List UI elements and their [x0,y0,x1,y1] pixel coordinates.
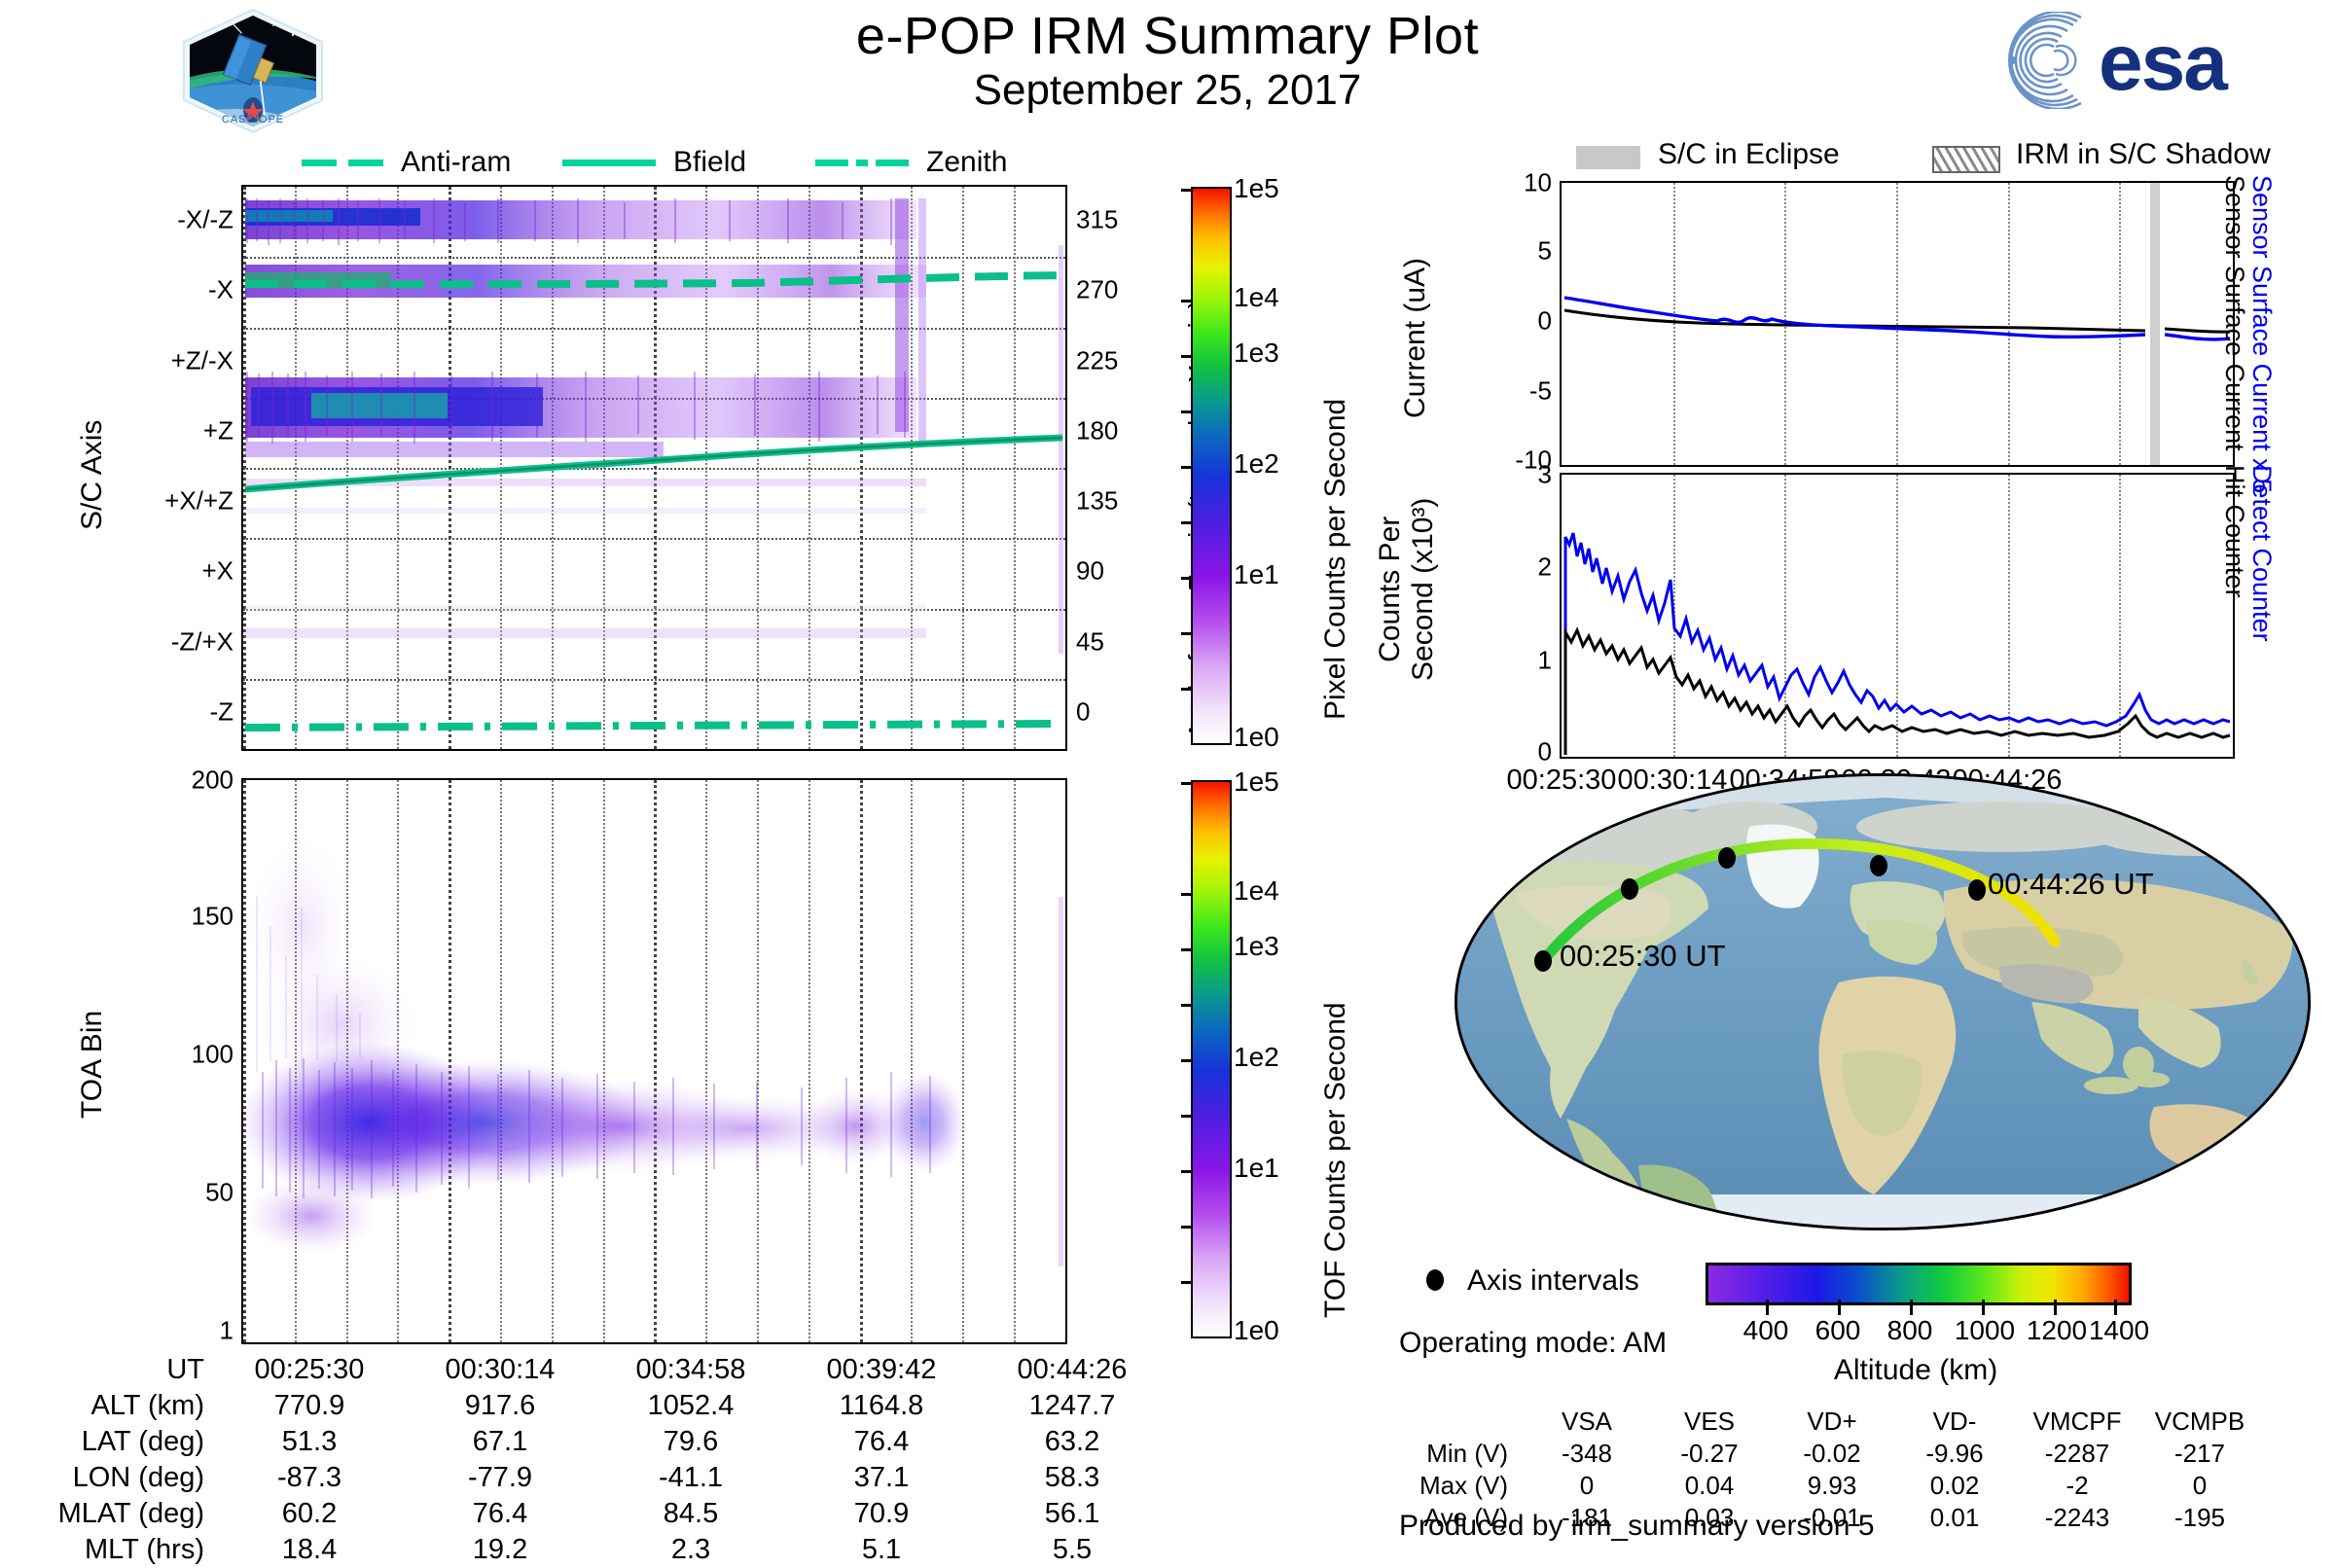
cell-lon-3: 37.1 [786,1460,977,1496]
panelA-angle-tick-6: 45 [1076,626,1104,657]
legend-swatch-zenith-c [876,160,909,166]
cell-mlt-1: 19.2 [405,1532,595,1568]
cell-ave-4: -2243 [2016,1502,2138,1534]
cbarB-tick-1e1: 1e1 [1234,1153,1279,1184]
legend-swatch-eclipse [1576,146,1640,169]
cell-lat-2: 79.6 [595,1424,786,1460]
cbarA-tick-1e1: 1e1 [1234,559,1279,590]
panelA-ytick-0: -X/-Z [177,205,233,235]
table-row: LON (deg) -87.3 -77.9 -41.1 37.1 58.3 [19,1460,1167,1496]
row-header-ut: UT [19,1352,214,1388]
cell-alt-0: 770.9 [214,1388,405,1424]
spectrogram-data-b [243,780,1065,1342]
table-row: UT 00:25:30 00:30:14 00:34:58 00:39:42 0… [19,1352,1167,1388]
cell-ave-3: 0.01 [1893,1502,2016,1534]
cell-mlt-3: 5.1 [786,1532,977,1568]
panelD-ylabel-group: Counts Per Second (x10³) [1374,498,1439,681]
panelA-ytick-3: +Z [203,415,233,445]
cell-mlt-0: 18.4 [214,1532,405,1568]
altitude-colorbar-label: Altitude (km) [1706,1354,2126,1387]
legend-right: S/C in Eclipse IRM in S/C Shadow [1576,138,2316,177]
cell-max-2: 9.93 [1771,1470,1893,1502]
table-row: ALT (km) 770.9 917.6 1052.4 1164.8 1247.… [19,1388,1167,1424]
alt-tick-400: 400 [1727,1315,1805,1346]
cbarB-tick-1e2: 1e2 [1234,1042,1279,1073]
row-header-alt: ALT (km) [19,1388,214,1424]
row-header-mlt: MLT (hrs) [19,1532,214,1568]
panelC-ytick-0: 0 [1538,306,1552,337]
cell-lon-0: -87.3 [214,1460,405,1496]
table-row: Max (V) 0 0.04 9.93 0.02 -2 0 [1391,1470,2261,1502]
legend-swatch-anti-ram-b [348,160,383,166]
current-traces [1562,183,2233,465]
produced-by-footer: Produced by irm_summary version 5 [1399,1510,1875,1543]
panelC-ytick-m5: -5 [1529,376,1552,407]
col-header-vcmpb: VCMPB [2138,1406,2261,1438]
pixel-counts-colorbar [1191,187,1232,745]
cell-ut-4: 00:44:26 [977,1352,1167,1388]
cell-alt-2: 1052.4 [595,1388,786,1424]
zenith-trace [245,724,1062,728]
cbarA-tick-1e3: 1e3 [1234,338,1279,369]
legend-swatch-anti-ram-a [302,160,337,166]
panelA-ytick-group-right: 315 270 225 180 135 90 45 0 [1076,185,1183,747]
cell-max-1: 0.04 [1648,1470,1771,1502]
cell-mlat-4: 56.1 [977,1496,1167,1532]
panelD-ytick-0: 0 [1538,737,1552,767]
cell-lat-4: 63.2 [977,1424,1167,1460]
row-header-min: Min (V) [1391,1438,1526,1470]
panelB-ytick-150: 150 [192,902,233,932]
cell-lat-0: 51.3 [214,1424,405,1460]
cell-max-5: 0 [2138,1470,2261,1502]
orbit-ground-track-map: 00:25:30 UT 00:44:26 UT [1455,773,2311,1230]
legend-label-shadow: IRM in S/C Shadow [2016,138,2271,171]
panelD-ytick-3: 3 [1538,460,1552,490]
cell-min-4: -2287 [2016,1438,2138,1470]
cell-mlt-2: 2.3 [595,1532,786,1568]
panelB-ytick-group: 200 150 100 50 1 [107,778,233,1340]
col-header-vdp: VD+ [1771,1406,1893,1438]
table-row: Min (V) -348 -0.27 -0.02 -9.96 -2287 -21… [1391,1438,2261,1470]
panelA-ytick-2: +Z/-X [171,345,233,375]
cassiope-logo-caption: CASSIOPE [222,114,284,125]
panelC-ytick-5: 5 [1538,236,1552,267]
panelD-right-label-black: Hit Counter [2219,465,2249,598]
panelB-ytick-200: 200 [192,766,233,796]
alt-tick-600: 600 [1799,1315,1877,1346]
cell-min-0: -348 [1526,1438,1648,1470]
panelA-angle-tick-0: 315 [1076,205,1118,235]
spectrogram-data-a [243,187,1065,749]
panelA-angle-tick-5: 90 [1076,556,1104,587]
altitude-colorbar-ticklabels: 400 600 800 1000 1200 1400 [1706,1315,2126,1354]
panelA-angle-tick-7: 0 [1076,696,1090,727]
cell-lon-2: -41.1 [595,1460,786,1496]
cbarB-tick-1e3: 1e3 [1234,931,1279,962]
col-header-vdm: VD- [1893,1406,2016,1438]
tof-counts-colorbar-label: TOF Counts per Second [1319,1002,1352,1318]
panelA-ytick-6: -Z/+X [171,626,233,657]
ephemeris-table: UT 00:25:30 00:30:14 00:34:58 00:39:42 0… [19,1352,1167,1568]
cell-lat-3: 76.4 [786,1424,977,1460]
cell-max-3: 0.02 [1893,1470,2016,1502]
axis-intervals-dot-icon [1416,1261,1455,1300]
legend-swatch-zenith-b [856,160,868,166]
panelA-ytick-7: -Z [209,696,233,727]
cell-mlat-0: 60.2 [214,1496,405,1532]
cell-ut-0: 00:25:30 [214,1352,405,1388]
panelB-ylabel: TOA Bin [76,1011,109,1119]
pixel-counts-colorbar-label: Pixel Counts per Second [1319,399,1352,720]
panelB-ytick-1: 1 [220,1316,233,1346]
panelC-ylabel: Current (uA) [1399,258,1432,418]
cbarA-tick-1e0: 1e0 [1234,722,1279,753]
panelA-angle-tick-3: 180 [1076,415,1118,445]
row-header-mlat: MLAT (deg) [19,1496,214,1532]
cell-lon-4: 58.3 [977,1460,1167,1496]
panelD-ylabel-line2: Second (x10³) [1407,498,1440,681]
panelB-ytick-100: 100 [192,1040,233,1070]
cbarB-tick-1e5: 1e5 [1234,766,1279,798]
col-header-vmcpf: VMCPF [2016,1406,2138,1438]
legend-swatch-zenith-a [815,160,848,166]
esa-wordmark: esa [2099,18,2229,107]
panelA-ytick-1: -X [208,275,233,305]
legend-label-bfield: Bfield [673,146,746,179]
panelD-ylabel-line1: Counts Per [1374,498,1407,681]
legend-label-zenith: Zenith [926,146,1007,179]
tof-counts-colorbar [1191,780,1232,1338]
counts-per-second-panel [1560,473,2235,759]
toa-bin-spectrogram-panel [241,778,1067,1344]
panelA-ytick-group-left: -X/-Z -X +Z/-X +Z +X/+Z +X -Z/+X -Z [92,185,233,747]
panelD-ytick-1: 1 [1538,646,1552,676]
cell-ut-2: 00:34:58 [595,1352,786,1388]
cell-ut-1: 00:30:14 [405,1352,595,1388]
panelD-ytick-2: 2 [1538,552,1552,583]
cell-ut-3: 00:39:42 [786,1352,977,1388]
cbarB-tick-1e4: 1e4 [1234,875,1279,907]
row-header-lon: LON (deg) [19,1460,214,1496]
voltage-corner-blank [1391,1406,1526,1438]
table-row: MLT (hrs) 18.4 19.2 2.3 5.1 5.5 [19,1532,1167,1568]
sensor-current-trace [1564,298,2145,337]
cbarB-tick-1e0: 1e0 [1234,1315,1279,1346]
panelD-right-label-blue: Detect Counter [2246,465,2277,642]
cell-alt-1: 917.6 [405,1388,595,1424]
cell-ave-5: -195 [2138,1502,2261,1534]
cell-min-2: -0.02 [1771,1438,1893,1470]
row-header-lat: LAT (deg) [19,1424,214,1460]
panelD-ytick-group: 3 2 1 0 [1450,473,1552,755]
cell-mlat-1: 76.4 [405,1496,595,1532]
legend-label-eclipse: S/C in Eclipse [1658,138,1840,171]
map-end-time-label: 00:44:26 UT [1988,867,2154,902]
panelA-ytick-5: +X [201,556,233,587]
panelC-right-label-black: Sensor Surface Current [2219,175,2249,451]
panelA-angle-tick-1: 270 [1076,275,1118,305]
cell-alt-4: 1247.7 [977,1388,1167,1424]
map-start-time-label: 00:25:30 UT [1560,939,1726,974]
legend-swatch-shadow [1932,146,2000,173]
counts-traces [1562,475,2233,757]
cbarA-tick-1e4: 1e4 [1234,282,1279,313]
table-row: MLAT (deg) 60.2 76.4 84.5 70.9 56.1 [19,1496,1167,1532]
esa-logo: esa [1980,12,2330,109]
panelA-angle-tick-4: 135 [1076,486,1118,517]
sc-axis-spectrogram-panel [241,185,1067,751]
cell-max-4: -2 [2016,1470,2138,1502]
alt-tick-1400: 1400 [2073,1315,2165,1346]
cell-lon-1: -77.9 [405,1460,595,1496]
cell-min-5: -217 [2138,1438,2261,1470]
alt-tick-800: 800 [1871,1315,1949,1346]
cell-max-0: 0 [1526,1470,1648,1502]
panelC-ytick-10: 10 [1524,168,1552,198]
table-header-row: VSA VES VD+ VD- VMCPF VCMPB [1391,1406,2261,1438]
cell-min-1: -0.27 [1648,1438,1771,1470]
col-header-vsa: VSA [1526,1406,1648,1438]
cell-min-3: -9.96 [1893,1438,2016,1470]
cassiope-mission-patch-icon: CASSIOPE [180,8,326,134]
panelA-ytick-4: +X/+Z [164,486,233,517]
cell-alt-3: 1164.8 [786,1388,977,1424]
cbarA-tick-1e2: 1e2 [1234,448,1279,480]
cell-mlat-2: 84.5 [595,1496,786,1532]
panelC-ytick-group: 10 5 0 -5 -10 [1430,181,1552,463]
panelA-angle-tick-2: 225 [1076,345,1118,375]
panelC-right-label-blue: Sensor Surface Current x 5 [2246,175,2277,493]
cell-lat-1: 67.1 [405,1424,595,1460]
cell-mlat-3: 70.9 [786,1496,977,1532]
legend-label-anti-ram: Anti-ram [401,146,511,179]
row-header-max: Max (V) [1391,1470,1526,1502]
col-header-ves: VES [1648,1406,1771,1438]
cbarA-tick-1e5: 1e5 [1234,173,1279,204]
table-row: LAT (deg) 51.3 67.1 79.6 76.4 63.2 [19,1424,1167,1460]
legend-swatch-bfield [562,160,656,166]
axis-intervals-legend-label: Axis intervals [1467,1265,1639,1298]
legend-left: Anti-ram Bfield Zenith [292,146,1031,181]
cell-mlt-4: 5.5 [977,1532,1167,1568]
panelB-ytick-50: 50 [205,1178,233,1208]
sensor-current-panel [1560,181,2235,467]
operating-mode-label: Operating mode: AM [1399,1327,1667,1360]
